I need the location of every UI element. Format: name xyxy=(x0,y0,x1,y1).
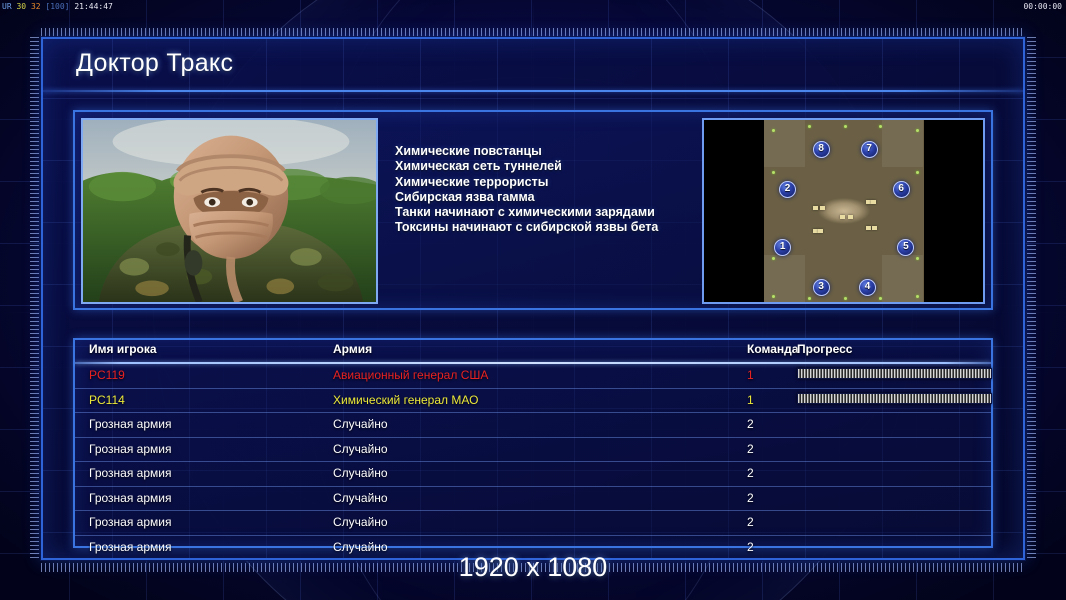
map-supply-dock xyxy=(840,215,845,219)
table-row[interactable]: PC114Химический генерал МАО1 xyxy=(75,389,991,414)
ruler-left xyxy=(30,37,39,560)
description-line: Химические повстанцы xyxy=(395,144,658,159)
map-tile xyxy=(882,120,924,167)
map-resource-dot xyxy=(772,257,775,260)
cell-player-name: Грозная армия xyxy=(89,442,171,456)
column-header-progress: Прогресс xyxy=(797,342,852,356)
mission-info-panel: Химические повстанцы Химическая сеть тун… xyxy=(73,110,993,310)
top-status-bar: UR 30 32 [100] 21:44:47 00:00:00 xyxy=(0,0,1066,13)
lobby-window: Доктор Тракс xyxy=(41,37,1025,560)
table-header: Имя игрока Армия Команда Прогресс xyxy=(75,340,991,363)
map-resource-dot xyxy=(844,125,847,128)
map-supply-dock xyxy=(872,226,877,230)
map-start-position-2[interactable]: 2 xyxy=(779,181,796,198)
description-line: Химическая сеть туннелей xyxy=(395,159,658,174)
status-value-b: 32 xyxy=(31,2,41,11)
map-supply-dock xyxy=(848,215,853,219)
description-line: Химические террористы xyxy=(395,175,658,190)
cell-army: Случайно xyxy=(333,442,388,456)
map-resource-dot xyxy=(879,297,882,300)
status-timer: 00:00:00 xyxy=(1023,0,1062,13)
player-list-panel: Имя игрока Армия Команда Прогресс PC119А… xyxy=(73,338,993,548)
cell-team: 2 xyxy=(747,491,754,505)
cell-progress xyxy=(797,393,992,404)
cell-army: Случайно xyxy=(333,466,388,480)
cell-team: 2 xyxy=(747,442,754,456)
cell-team: 2 xyxy=(747,466,754,480)
cell-army: Случайно xyxy=(333,491,388,505)
map-tile xyxy=(764,120,806,167)
progress-bar xyxy=(797,393,992,404)
cell-player-name: PC114 xyxy=(89,393,125,407)
map-supply-dock xyxy=(866,226,871,230)
page-title: Доктор Тракс xyxy=(76,49,233,78)
map-start-position-6[interactable]: 6 xyxy=(893,181,910,198)
map-resource-dot xyxy=(772,171,775,174)
title-divider xyxy=(43,90,1023,92)
column-header-army: Армия xyxy=(333,342,372,356)
column-header-team: Команда xyxy=(747,342,798,356)
map-resource-dot xyxy=(772,129,775,132)
map-start-position-8[interactable]: 8 xyxy=(813,141,830,158)
description-line: Сибирская язва гамма xyxy=(395,190,658,205)
map-resource-dot xyxy=(772,295,775,298)
cell-army: Случайно xyxy=(333,417,388,431)
ruler-top xyxy=(41,28,1025,37)
table-row[interactable]: PC119Авиационный генерал США1 xyxy=(75,364,991,389)
map-start-position-1[interactable]: 1 xyxy=(774,239,791,256)
ruler-right xyxy=(1027,37,1036,560)
progress-bar xyxy=(797,368,992,379)
cell-player-name: Грозная армия xyxy=(89,417,171,431)
map-resource-dot xyxy=(916,129,919,132)
status-percent: [100] xyxy=(45,2,69,11)
map-resource-dot xyxy=(808,297,811,300)
general-portrait xyxy=(81,118,378,304)
cell-player-name: Грозная армия xyxy=(89,466,171,480)
description-line: Танки начинают с химическими зарядами xyxy=(395,205,658,220)
status-left-group: UR 30 32 [100] 21:44:47 xyxy=(2,0,113,13)
status-value-a: 30 xyxy=(16,2,26,11)
player-rows: PC119Авиационный генерал США1PC114Химиче… xyxy=(75,364,991,546)
map-resource-dot xyxy=(916,257,919,260)
cell-army: Авиационный генерал США xyxy=(333,368,488,382)
cell-team: 1 xyxy=(747,368,754,382)
table-row[interactable]: Грозная армияСлучайно2 xyxy=(75,462,991,487)
map-start-position-3[interactable]: 3 xyxy=(813,279,830,296)
cell-team: 2 xyxy=(747,417,754,431)
cell-player-name: Грозная армия xyxy=(89,491,171,505)
table-row[interactable]: Грозная армияСлучайно2 xyxy=(75,511,991,536)
resolution-label: 1920 x 1080 xyxy=(0,552,1066,583)
map-resource-dot xyxy=(808,125,811,128)
table-row[interactable]: Грозная армияСлучайно2 xyxy=(75,487,991,512)
map-start-position-5[interactable]: 5 xyxy=(897,239,914,256)
cell-army: Случайно xyxy=(333,515,388,529)
description-line: Токсины начинают с сибирской язвы бета xyxy=(395,220,658,235)
map-supply-dock xyxy=(820,206,825,210)
map-tile xyxy=(764,255,806,302)
cell-progress xyxy=(797,368,992,379)
cell-team: 2 xyxy=(747,515,754,529)
cell-team: 1 xyxy=(747,393,754,407)
map-resource-dot xyxy=(844,297,847,300)
status-clock: 21:44:47 xyxy=(74,2,113,11)
table-row[interactable]: Грозная армияСлучайно2 xyxy=(75,413,991,438)
map-resource-dot xyxy=(916,295,919,298)
map-supply-dock xyxy=(818,229,823,233)
map-start-position-7[interactable]: 7 xyxy=(861,141,878,158)
map-preview-image[interactable]: 87261534 xyxy=(764,120,924,302)
map-start-position-4[interactable]: 4 xyxy=(859,279,876,296)
map-supply-dock xyxy=(813,206,818,210)
column-header-player-name: Имя игрока xyxy=(89,342,157,356)
map-resource-dot xyxy=(916,171,919,174)
faction-description: Химические повстанцы Химическая сеть тун… xyxy=(395,144,658,236)
cell-player-name: PC119 xyxy=(89,368,125,382)
cell-player-name: Грозная армия xyxy=(89,515,171,529)
map-preview-frame[interactable]: 87261534 xyxy=(702,118,985,304)
status-label: UR xyxy=(2,2,12,11)
map-supply-dock xyxy=(871,200,876,204)
cell-army: Химический генерал МАО xyxy=(333,393,478,407)
table-row[interactable]: Грозная армияСлучайно2 xyxy=(75,438,991,463)
masked-soldier-portrait-icon xyxy=(83,120,376,302)
